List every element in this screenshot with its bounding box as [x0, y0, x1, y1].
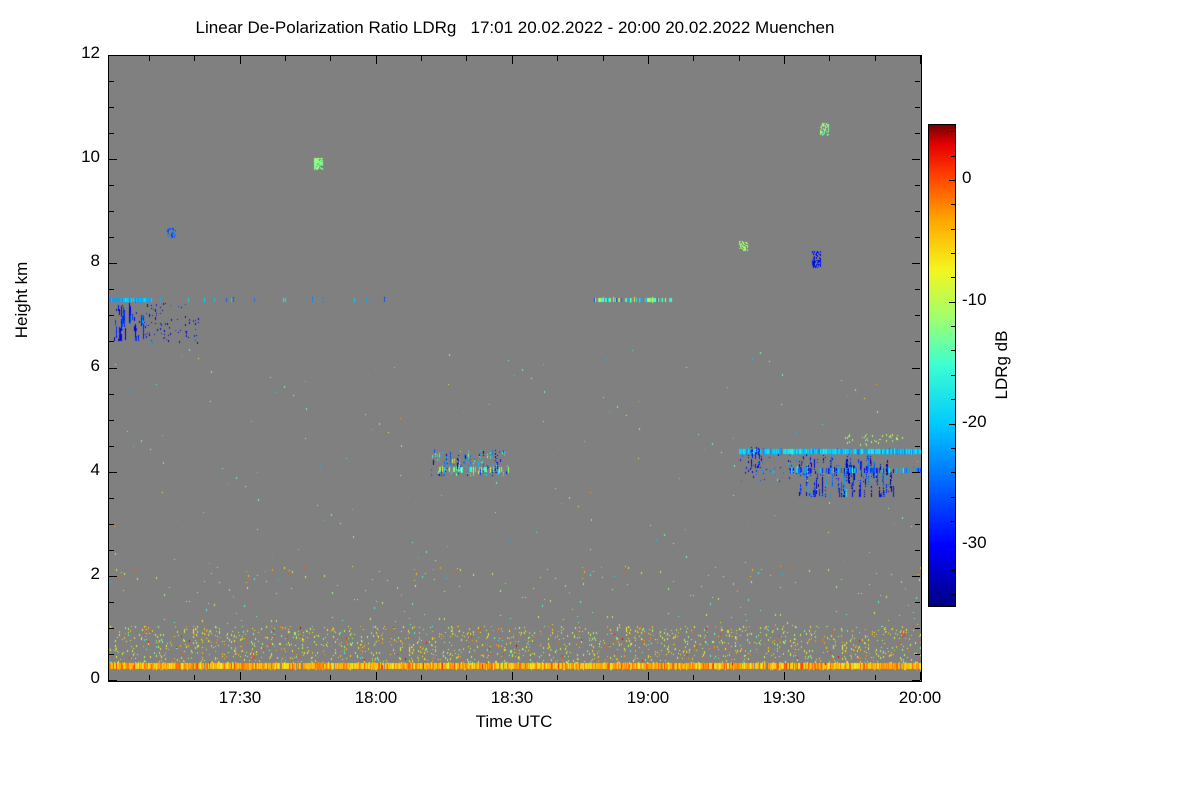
y-axis-major-tick — [109, 263, 117, 264]
x-axis-minor-tick — [421, 675, 422, 680]
y-axis-minor-tick-right — [915, 211, 920, 212]
x-axis-minor-tick — [829, 675, 830, 680]
colorbar-minor-tick — [951, 497, 955, 498]
colorbar-major-tick — [949, 424, 955, 425]
y-axis-major-tick — [109, 680, 117, 681]
y-axis-minor-tick-right — [915, 394, 920, 395]
x-axis-minor-tick — [285, 675, 286, 680]
y-axis-major-tick-right — [912, 472, 920, 473]
y-axis-minor-tick-right — [915, 185, 920, 186]
x-axis-minor-tick-top — [194, 56, 195, 61]
colorbar-ticklabel: -30 — [962, 536, 1022, 550]
x-axis-minor-tick — [512, 675, 513, 680]
y-axis-minor-tick-right — [915, 315, 920, 316]
y-axis-major-tick-right — [912, 55, 920, 56]
x-axis-minor-tick-top — [557, 56, 558, 61]
colorbar-minor-tick — [951, 594, 955, 595]
y-axis-minor-tick-right — [915, 237, 920, 238]
y-axis-minor-tick-right — [915, 446, 920, 447]
y-axis-minor-tick-right — [915, 420, 920, 421]
x-axis-minor-tick-top — [421, 56, 422, 61]
x-axis-minor-tick — [149, 675, 150, 680]
y-axis-major-tick — [109, 576, 117, 577]
y-axis-minor-tick — [109, 602, 114, 603]
x-axis-minor-tick — [875, 675, 876, 680]
y-axis-minor-tick — [109, 394, 114, 395]
colorbar-minor-tick — [951, 570, 955, 571]
lidar-quicklook-figure: Linear De-Polarization Ratio LDRg 17:01 … — [0, 0, 1200, 800]
x-axis-minor-tick-top — [149, 56, 150, 61]
x-axis-minor-tick-top — [739, 56, 740, 61]
x-axis-minor-tick — [240, 675, 241, 680]
y-axis-major-tick-right — [912, 368, 920, 369]
x-axis-minor-tick-top — [466, 56, 467, 61]
y-axis-minor-tick — [109, 289, 114, 290]
colorbar-minor-tick — [951, 131, 955, 132]
y-axis-major-tick — [109, 472, 117, 473]
x-axis-minor-tick-top — [829, 56, 830, 61]
y-axis-minor-tick-right — [915, 81, 920, 82]
y-axis-minor-tick — [109, 341, 114, 342]
colorbar-minor-tick — [951, 229, 955, 230]
y-axis-minor-tick — [109, 237, 114, 238]
y-axis-minor-tick-right — [915, 524, 920, 525]
colorbar-major-tick — [949, 302, 955, 303]
colorbar-minor-tick — [951, 156, 955, 157]
x-axis-minor-tick — [466, 675, 467, 680]
y-axis-major-tick-right — [912, 159, 920, 160]
colorbar-minor-tick — [951, 253, 955, 254]
colorbar-title: LDRg dB — [992, 265, 1012, 465]
x-axis-minor-tick — [648, 675, 649, 680]
x-axis-major-tick-top — [920, 56, 921, 64]
y-axis-major-tick-right — [912, 680, 920, 681]
colorbar-minor-tick — [951, 472, 955, 473]
x-axis-minor-tick-top — [648, 56, 649, 61]
y-axis-major-tick-right — [912, 263, 920, 264]
y-axis-minor-tick-right — [915, 498, 920, 499]
x-axis-minor-tick-top — [875, 56, 876, 61]
y-axis-major-tick — [109, 368, 117, 369]
x-axis-minor-tick-top — [784, 56, 785, 61]
y-axis-minor-tick-right — [915, 550, 920, 551]
y-axis-major-tick-right — [912, 576, 920, 577]
colorbar-major-tick — [949, 180, 955, 181]
y-axis-major-tick — [109, 159, 117, 160]
x-axis-minor-tick-top — [512, 56, 513, 61]
colorbar-ticklabels: 0-10-20-30 — [0, 0, 1200, 800]
x-axis-minor-tick-top — [240, 56, 241, 61]
x-axis-minor-tick-top — [330, 56, 331, 61]
x-axis-minor-tick — [557, 675, 558, 680]
y-axis-minor-tick — [109, 81, 114, 82]
y-axis-minor-tick-right — [915, 628, 920, 629]
y-axis-minor-tick — [109, 550, 114, 551]
y-axis-minor-tick — [109, 133, 114, 134]
x-axis-minor-tick-top — [603, 56, 604, 61]
x-axis-major-tick — [920, 672, 921, 680]
colorbar-minor-tick — [951, 326, 955, 327]
y-axis-minor-tick — [109, 315, 114, 316]
y-axis-minor-tick-right — [915, 602, 920, 603]
y-axis-minor-tick-right — [915, 107, 920, 108]
colorbar-major-tick — [949, 545, 955, 546]
x-axis-minor-tick — [330, 675, 331, 680]
colorbar-minor-tick — [951, 277, 955, 278]
y-axis-minor-tick-right — [915, 133, 920, 134]
x-axis-minor-tick-top — [285, 56, 286, 61]
x-axis-minor-tick — [784, 675, 785, 680]
x-axis-minor-tick — [603, 675, 604, 680]
colorbar-minor-tick — [951, 521, 955, 522]
colorbar-minor-tick — [951, 448, 955, 449]
y-axis-minor-tick — [109, 446, 114, 447]
y-axis-minor-tick — [109, 498, 114, 499]
y-axis-minor-tick — [109, 185, 114, 186]
y-axis-minor-tick-right — [915, 341, 920, 342]
y-axis-minor-tick — [109, 211, 114, 212]
x-axis-minor-tick — [376, 675, 377, 680]
x-axis-minor-tick — [693, 675, 694, 680]
x-axis-minor-tick — [194, 675, 195, 680]
colorbar-minor-tick — [951, 204, 955, 205]
x-axis-minor-tick-top — [376, 56, 377, 61]
colorbar-minor-tick — [951, 375, 955, 376]
colorbar-minor-tick — [951, 399, 955, 400]
x-axis-minor-tick-top — [693, 56, 694, 61]
y-axis-minor-tick-right — [915, 289, 920, 290]
colorbar-minor-tick — [951, 350, 955, 351]
colorbar-ticklabel: 0 — [962, 171, 1022, 185]
x-axis-minor-tick — [739, 675, 740, 680]
y-axis-minor-tick — [109, 524, 114, 525]
y-axis-minor-tick — [109, 420, 114, 421]
y-axis-minor-tick-right — [915, 654, 920, 655]
y-axis-minor-tick — [109, 654, 114, 655]
y-axis-minor-tick — [109, 628, 114, 629]
y-axis-minor-tick — [109, 107, 114, 108]
y-axis-major-tick — [109, 55, 117, 56]
